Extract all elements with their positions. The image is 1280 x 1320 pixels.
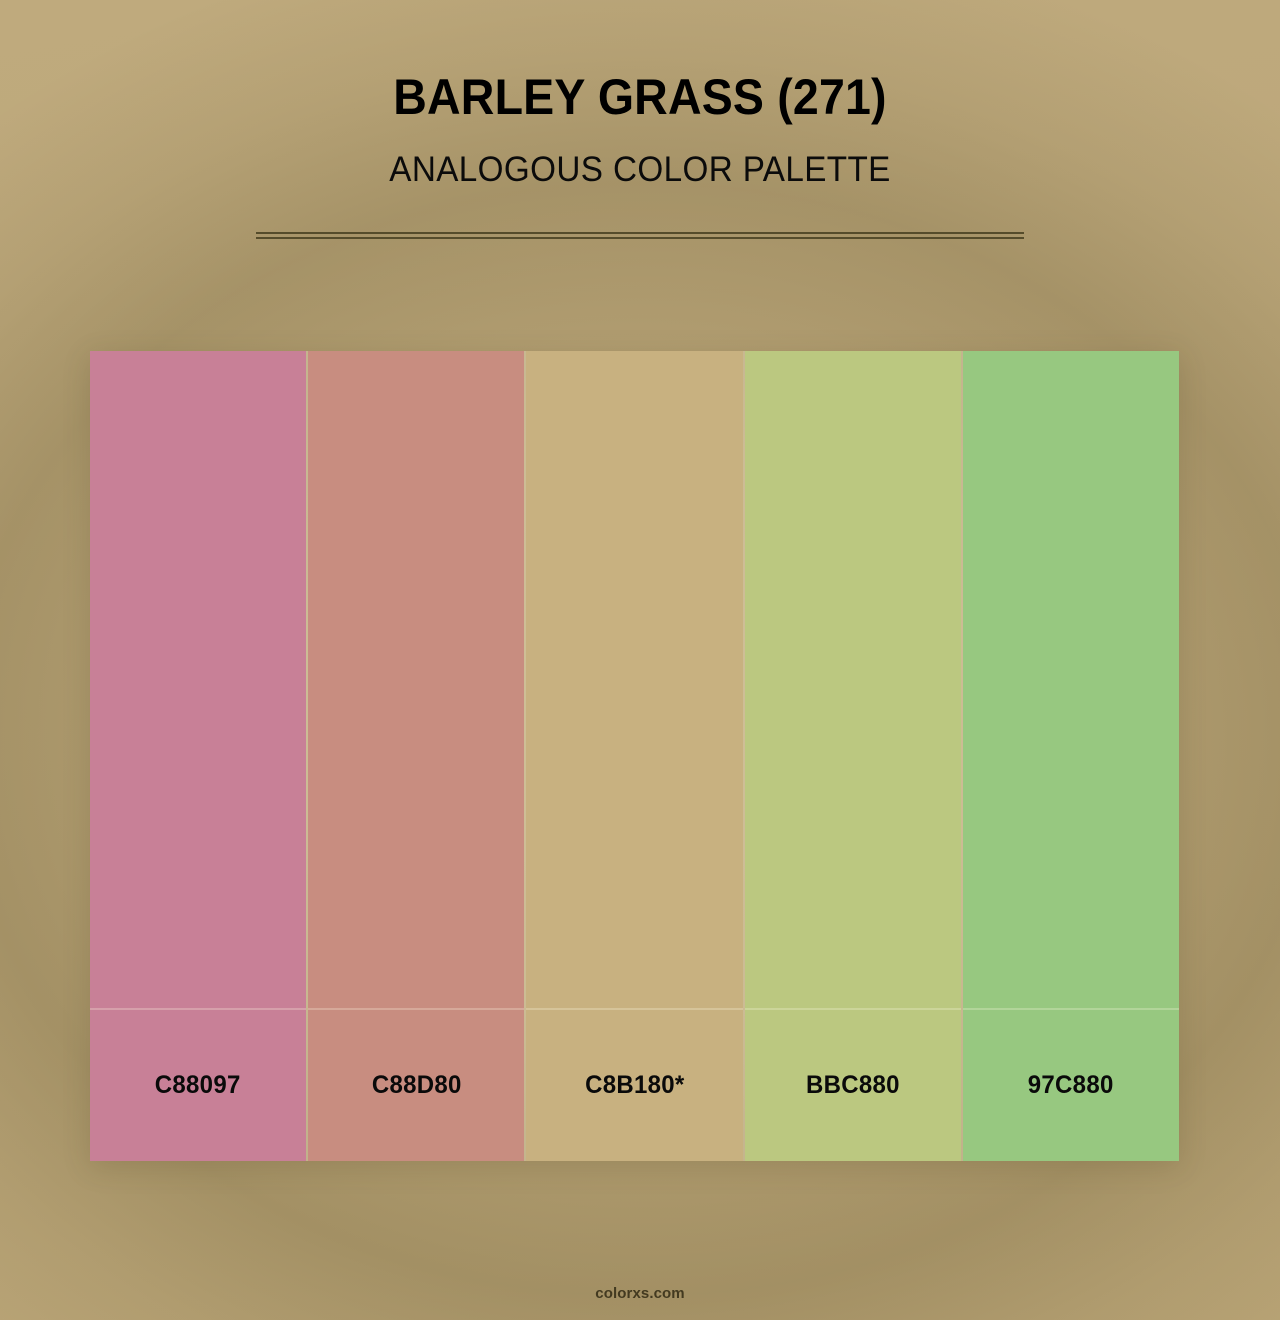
palette-swatch-1[interactable]: C88097 (90, 351, 306, 1161)
palette-swatch-2[interactable]: C88D80 (306, 351, 524, 1161)
swatch-hex-label: 97C880 (1028, 1071, 1114, 1100)
page-header: BARLEY GRASS (271) ANALOGOUS COLOR PALET… (0, 0, 1280, 187)
page-background: BARLEY GRASS (271) ANALOGOUS COLOR PALET… (0, 0, 1280, 1320)
swatch-hex-label: C88D80 (371, 1071, 461, 1100)
swatch-color-block[interactable] (745, 351, 961, 1008)
swatch-hex-label: BBC880 (806, 1071, 900, 1100)
swatch-label-band: BBC880 (745, 1008, 961, 1161)
header-divider (256, 232, 1024, 239)
swatch-label-band: 97C880 (963, 1008, 1179, 1161)
palette-swatch-4[interactable]: BBC880 (743, 351, 961, 1161)
swatch-color-block[interactable] (526, 351, 742, 1008)
page-title: BARLEY GRASS (271) (45, 0, 1235, 122)
page-footer: colorxs.com (0, 1285, 1280, 1303)
divider-line-bottom (256, 237, 1024, 239)
swatch-color-block[interactable] (963, 351, 1179, 1008)
swatch-color-block[interactable] (308, 351, 524, 1008)
swatch-label-band: C88D80 (308, 1008, 524, 1161)
color-palette-card: C88097 C88D80 C8B180* BBC880 97C880 (90, 351, 1179, 1161)
swatch-label-band: C88097 (90, 1008, 306, 1161)
palette-swatch-3[interactable]: C8B180* (524, 351, 742, 1161)
swatch-color-block[interactable] (90, 351, 306, 1008)
swatch-hex-label: C88097 (155, 1071, 241, 1100)
palette-swatch-5[interactable]: 97C880 (961, 351, 1179, 1161)
swatch-hex-label: C8B180* (585, 1071, 684, 1100)
footer-site-label: colorxs.com (595, 1285, 684, 1302)
divider-line-top (256, 232, 1024, 234)
swatch-label-band: C8B180* (526, 1008, 742, 1161)
page-subtitle: ANALOGOUS COLOR PALETTE (32, 122, 1248, 187)
